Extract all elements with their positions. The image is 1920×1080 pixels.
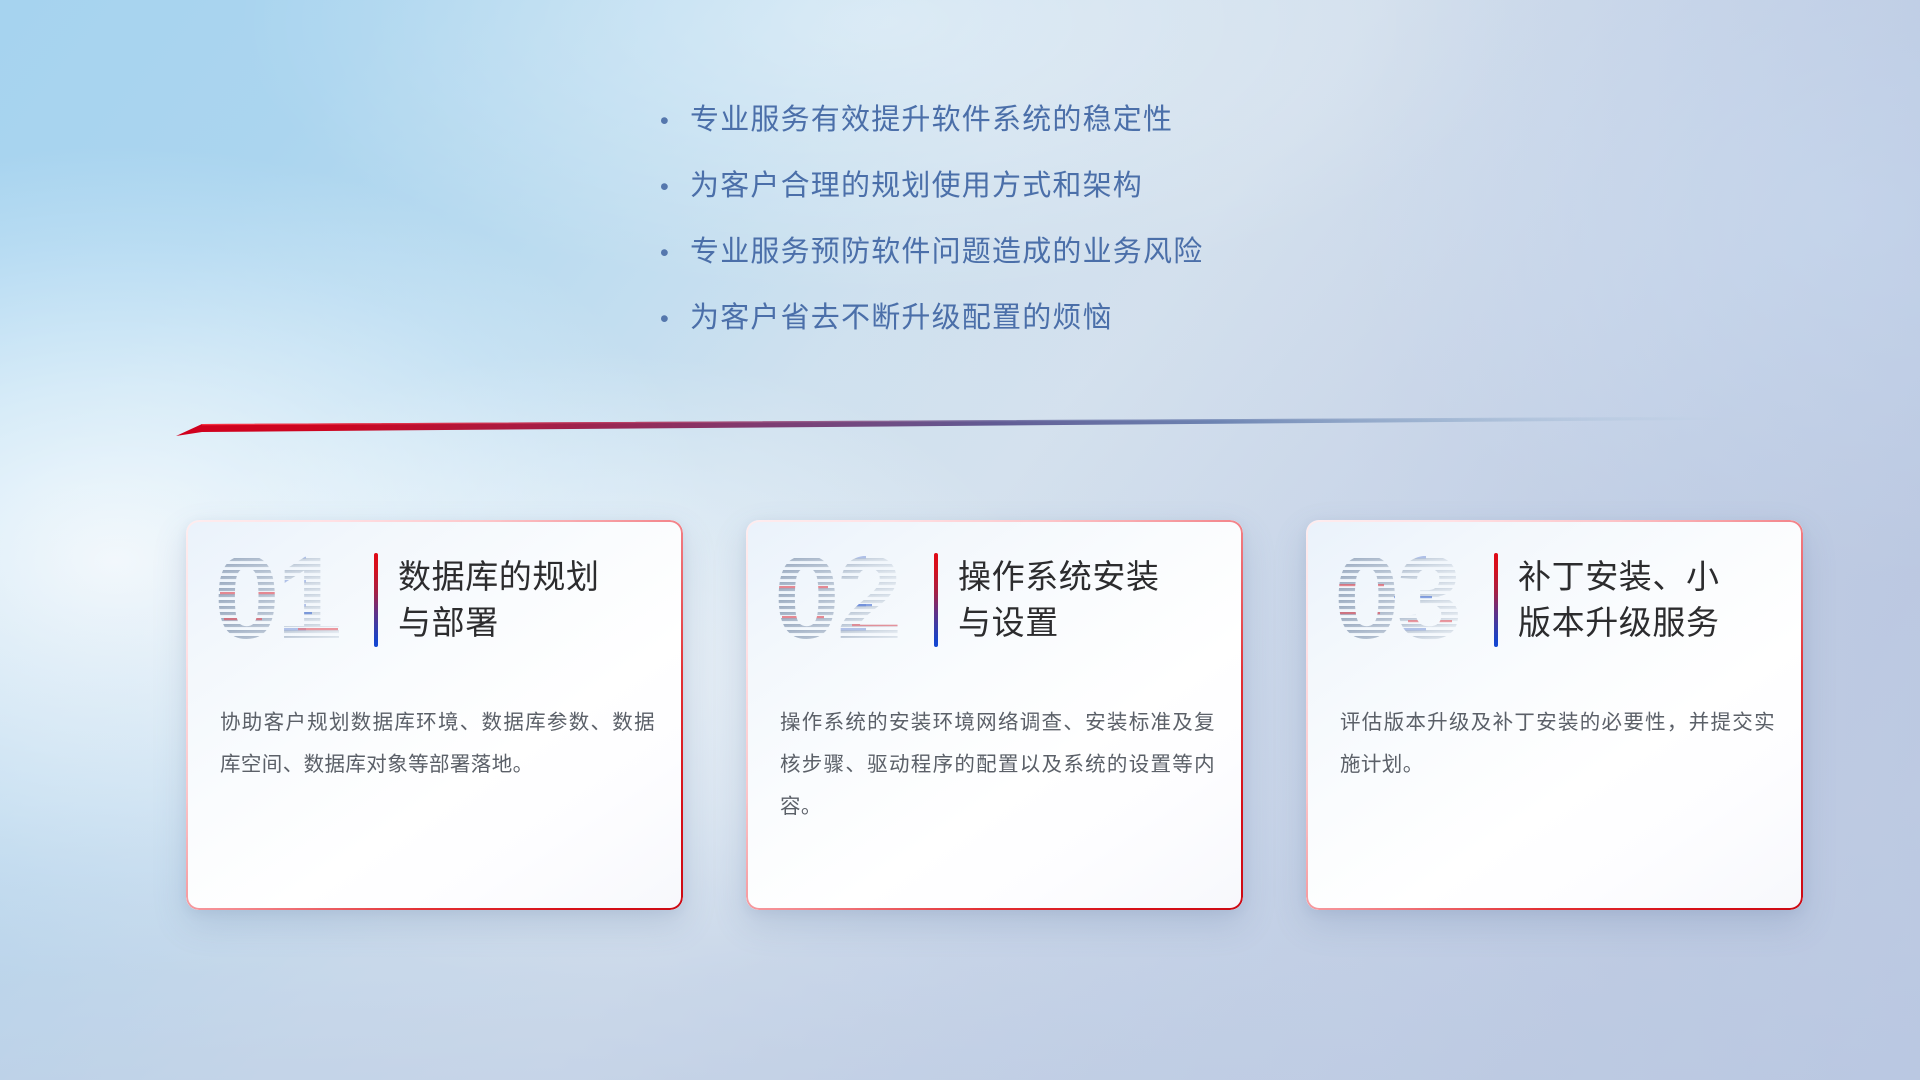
bullet-dot-icon: • [660, 155, 690, 220]
card-number-03: 03 [1334, 546, 1486, 654]
list-item-label: 为客户合理的规划使用方式和架构 [690, 154, 1143, 219]
card-header: 01 [186, 546, 683, 654]
bullet-dot-icon: • [660, 89, 690, 154]
benefits-bullet-list: • 专业服务有效提升软件系统的稳定性 • 为客户合理的规划使用方式和架构 • 专… [660, 88, 1640, 352]
card-body-text: 操作系统的安装环境网络调查、安装标准及复核步骤、驱动程序的配置以及系统的设置等内… [780, 702, 1215, 828]
service-card-02[interactable]: 02 [746, 520, 1243, 910]
list-item: • 专业服务预防软件问题造成的业务风险 [660, 220, 1640, 286]
bullet-dot-icon: • [660, 221, 690, 286]
list-item: • 为客户合理的规划使用方式和架构 [660, 154, 1640, 220]
card-accent-bar [1494, 553, 1498, 647]
section-divider [176, 410, 1752, 444]
service-card-01[interactable]: 01 [186, 520, 683, 910]
service-card-03[interactable]: 03 [1306, 520, 1803, 910]
striped-numeral-icon: 01 [214, 546, 366, 654]
card-body-text: 协助客户规划数据库环境、数据库参数、数据库空间、数据库对象等部署落地。 [220, 702, 655, 786]
card-accent-bar [374, 553, 378, 647]
list-item-label: 专业服务预防软件问题造成的业务风险 [690, 220, 1203, 285]
card-title: 数据库的规划 与部署 [398, 554, 612, 646]
card-title: 补丁安装、小 版本升级服务 [1518, 554, 1732, 646]
striped-numeral-icon: 03 [1334, 546, 1486, 654]
card-body-text: 评估版本升级及补丁安装的必要性，并提交实施计划。 [1340, 702, 1775, 786]
bullet-dot-icon: • [660, 287, 690, 352]
divider-wedge-icon [176, 410, 1752, 444]
card-number-01: 01 [214, 546, 366, 654]
card-number-02: 02 [774, 546, 926, 654]
list-item: • 为客户省去不断升级配置的烦恼 [660, 286, 1640, 352]
card-header: 02 [746, 546, 1243, 654]
service-card-row: 01 [186, 520, 1803, 910]
list-item-label: 为客户省去不断升级配置的烦恼 [690, 286, 1113, 351]
card-header: 03 [1306, 546, 1803, 654]
list-item-label: 专业服务有效提升软件系统的稳定性 [690, 88, 1173, 153]
striped-numeral-icon: 02 [774, 546, 926, 654]
list-item: • 专业服务有效提升软件系统的稳定性 [660, 88, 1640, 154]
card-title: 操作系统安装 与设置 [958, 554, 1172, 646]
card-accent-bar [934, 553, 938, 647]
